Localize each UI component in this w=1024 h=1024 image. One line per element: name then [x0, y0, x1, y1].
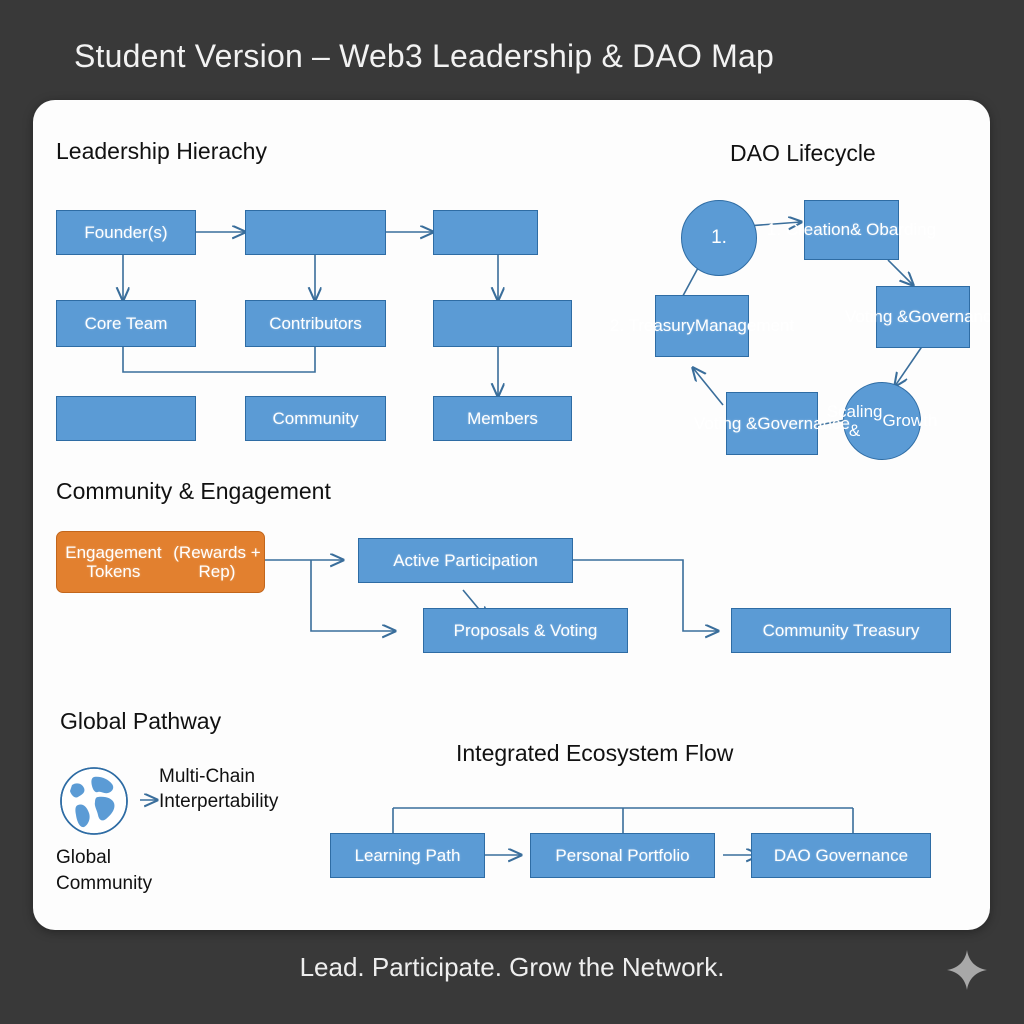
node-core-team[interactable]: Core Team: [56, 300, 196, 347]
node-proposals-voting[interactable]: Proposals & Voting: [423, 608, 628, 653]
node-hierarchy-empty-3[interactable]: [433, 300, 572, 347]
node-learning-path[interactable]: Learning Path: [330, 833, 485, 878]
node-community-treasury[interactable]: Community Treasury: [731, 608, 951, 653]
node-founders[interactable]: Founder(s): [56, 210, 196, 255]
node-members[interactable]: Members: [433, 396, 572, 441]
node-contributors[interactable]: Contributors: [245, 300, 386, 347]
node-dao-governance[interactable]: DAO Governance: [751, 833, 931, 878]
node-dao-step-circle[interactable]: 1.: [681, 200, 757, 276]
node-dao-treasury-management[interactable]: 2. TreasuryManagement: [655, 295, 749, 357]
section-heading-ecosystem: Integrated Ecosystem Flow: [456, 740, 733, 767]
node-hierarchy-empty-2[interactable]: [433, 210, 538, 255]
diagram-card: Leadership Hierachy Founder(s) Core Team…: [33, 100, 990, 930]
label-global-community: Global Community: [56, 845, 152, 896]
node-dao-voting-governance-1[interactable]: Voting &Governance: [876, 286, 970, 348]
node-personal-portfolio[interactable]: Personal Portfolio: [530, 833, 715, 878]
node-hierarchy-empty-1[interactable]: [245, 210, 386, 255]
label-multi-chain-interoperability: Multi-Chain Interpertability: [159, 765, 278, 814]
node-hierarchy-empty-4[interactable]: [56, 396, 196, 441]
node-dao-creation-onboarding[interactable]: 1. Creation& Obarding: [804, 200, 899, 260]
node-community[interactable]: Community: [245, 396, 386, 441]
globe-icon: [58, 765, 130, 837]
node-engagement-tokens[interactable]: Engagement Tokens(Rewards + Rep): [56, 531, 265, 593]
node-dao-voting-governance-2[interactable]: Voting &Governance: [726, 392, 818, 455]
page-title: Student Version – Web3 Leadership & DAO …: [74, 38, 774, 75]
section-heading-leadership: Leadership Hierachy: [56, 138, 267, 165]
section-heading-dao-lifecycle: DAO Lifecycle: [730, 140, 876, 167]
footer-tagline: Lead. Participate. Grow the Network.: [0, 952, 1024, 983]
section-heading-global-pathway: Global Pathway: [60, 708, 221, 735]
node-dao-scaling-growth[interactable]: Scaling &Growth: [843, 382, 921, 460]
section-heading-community: Community & Engagement: [56, 478, 331, 505]
node-active-participation[interactable]: Active Participation: [358, 538, 573, 583]
sparkle-icon: [945, 948, 989, 992]
